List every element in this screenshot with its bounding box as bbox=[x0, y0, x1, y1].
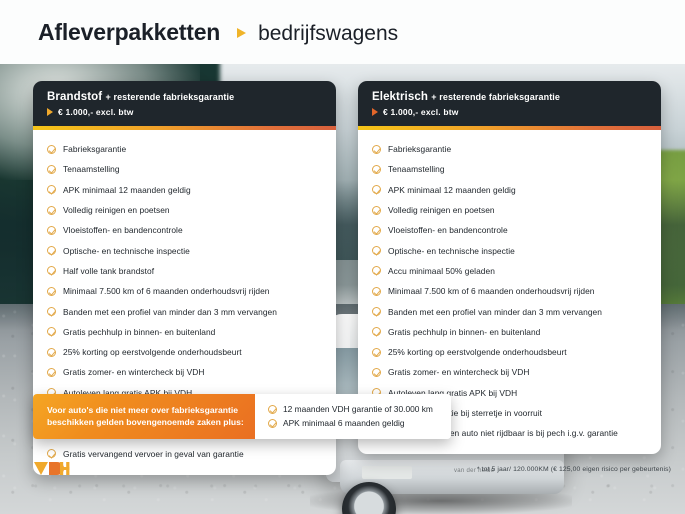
list-item: 25% korting op eerstvolgende onderhoudsb… bbox=[358, 342, 661, 362]
list-item-label: Tenaamstelling bbox=[388, 164, 445, 174]
list-item-label: Gratis pechhulp in binnen- en buitenland bbox=[63, 327, 215, 337]
check-circle-icon bbox=[47, 246, 56, 255]
triangle-right-icon bbox=[372, 108, 378, 116]
card-title: Brandstof + resterende fabrieksgarantie bbox=[47, 91, 322, 103]
check-circle-icon bbox=[47, 327, 56, 336]
van-license-plate bbox=[362, 466, 412, 479]
list-item: 12 maanden VDH garantie of 30.000 km bbox=[268, 404, 435, 414]
list-item: Half volle tank brandstof bbox=[33, 261, 336, 281]
afleverpakketten-poster: VW van der heide Afleverpakketten bedrij… bbox=[0, 0, 685, 514]
triangle-right-icon bbox=[237, 28, 246, 38]
list-item-label: Gratis pechhulp in binnen- en buitenland bbox=[388, 327, 540, 337]
banner-white-panel: 12 maanden VDH garantie of 30.000 km APK… bbox=[255, 394, 451, 439]
list-item-label: Optische- en technische inspectie bbox=[63, 246, 190, 256]
check-circle-icon bbox=[47, 226, 56, 235]
check-circle-icon bbox=[47, 266, 56, 275]
list-item: Tenaamstelling bbox=[33, 159, 336, 179]
list-item-label: Gratis zomer- en wintercheck bij VDH bbox=[388, 367, 529, 377]
list-item-label: Tenaamstelling bbox=[63, 164, 120, 174]
list-item: Vloeistoffen- en bandencontrole bbox=[33, 220, 336, 240]
list-item-label: Minimaal 7.500 km of 6 maanden onderhoud… bbox=[63, 286, 270, 296]
list-item: APK minimaal 12 maanden geldig bbox=[33, 180, 336, 200]
list-item: Optische- en technische inspectie bbox=[358, 240, 661, 260]
list-item-label: 12 maanden VDH garantie of 30.000 km bbox=[283, 404, 433, 414]
list-item-label: Vloeistoffen- en bandencontrole bbox=[63, 225, 183, 235]
list-item: Banden met een profiel van minder dan 3 … bbox=[33, 301, 336, 321]
list-item-label: Accu minimaal 50% geladen bbox=[388, 266, 495, 276]
list-item: Vloeistoffen- en bandencontrole bbox=[358, 220, 661, 240]
list-item-label: Volledig reinigen en poetsen bbox=[388, 205, 495, 215]
card-title-suffix: + resterende fabrieksgarantie bbox=[431, 92, 560, 102]
list-item: Volledig reinigen en poetsen bbox=[358, 200, 661, 220]
logo-text-bold: heide bbox=[130, 458, 173, 477]
list-item-label: Vloeistoffen- en bandencontrole bbox=[388, 225, 508, 235]
check-circle-icon bbox=[47, 145, 56, 154]
check-circle-icon bbox=[372, 368, 381, 377]
list-item-label: 25% korting op eerstvolgende onderhoudsb… bbox=[388, 347, 567, 357]
check-circle-icon bbox=[47, 165, 56, 174]
page-header: Afleverpakketten bedrijfswagens bbox=[0, 0, 685, 64]
card-title-text: Elektrisch bbox=[372, 91, 428, 103]
check-circle-icon bbox=[47, 449, 56, 458]
list-item-label: APK minimaal 12 maanden geldig bbox=[388, 185, 516, 195]
check-circle-icon bbox=[372, 266, 381, 275]
list-item: APK minimaal 6 maanden geldig bbox=[268, 418, 435, 428]
banner-line-1: Voor auto's die niet meer over fabrieksg… bbox=[47, 404, 241, 416]
banner-orange-panel: Voor auto's die niet meer over fabrieksg… bbox=[33, 394, 255, 439]
card-price-row: € 1.000,- excl. btw bbox=[47, 107, 322, 117]
page-title-sub: bedrijfswagens bbox=[258, 22, 398, 45]
check-circle-icon bbox=[372, 327, 381, 336]
list-item: Minimaal 7.500 km of 6 maanden onderhoud… bbox=[33, 281, 336, 301]
check-circle-icon bbox=[47, 307, 56, 316]
check-circle-icon bbox=[47, 348, 56, 357]
card-title-text: Brandstof bbox=[47, 91, 102, 103]
card-header: Brandstof + resterende fabrieksgarantie … bbox=[33, 81, 336, 126]
card-title-suffix: + resterende fabrieksgarantie bbox=[106, 92, 235, 102]
list-item: Gratis pechhulp in binnen- en buitenland bbox=[358, 322, 661, 342]
list-item-label: Banden met een profiel van minder dan 3 … bbox=[63, 307, 277, 317]
check-circle-icon bbox=[372, 165, 381, 174]
page-title-main: Afleverpakketten bbox=[38, 19, 220, 45]
triangle-right-icon bbox=[47, 108, 53, 116]
list-item: Gratis zomer- en wintercheck bij VDH bbox=[33, 362, 336, 382]
card-title: Elektrisch + resterende fabrieksgarantie bbox=[372, 91, 647, 103]
check-circle-icon bbox=[372, 307, 381, 316]
check-circle-icon bbox=[372, 185, 381, 194]
page-title: Afleverpakketten bedrijfswagens bbox=[38, 19, 398, 46]
list-item-label: Volledig reinigen en poetsen bbox=[63, 205, 170, 215]
list-item: Gratis pechhulp in binnen- en buitenland bbox=[33, 322, 336, 342]
list-item-label: 25% korting op eerstvolgende onderhoudsb… bbox=[63, 347, 242, 357]
check-circle-icon bbox=[47, 185, 56, 194]
list-item: Fabrieksgarantie bbox=[358, 139, 661, 159]
list-item: APK minimaal 12 maanden geldig bbox=[358, 180, 661, 200]
list-item: Volledig reinigen en poetsen bbox=[33, 200, 336, 220]
card-price: € 1.000,- excl. btw bbox=[383, 107, 459, 117]
check-circle-icon bbox=[47, 287, 56, 296]
check-circle-icon bbox=[372, 226, 381, 235]
logo-text-light: vander bbox=[79, 458, 130, 477]
list-item: Minimaal 7.500 km of 6 maanden onderhoud… bbox=[358, 281, 661, 301]
footnote: * tot 5 jaar/ 120.000KM (€ 125,00 eigen … bbox=[477, 466, 671, 473]
list-item: Tenaamstelling bbox=[358, 159, 661, 179]
list-item-label: Half volle tank brandstof bbox=[63, 266, 154, 276]
list-item: Optische- en technische inspectie bbox=[33, 240, 336, 260]
check-circle-icon bbox=[372, 287, 381, 296]
list-item-label: Gratis zomer- en wintercheck bij VDH bbox=[63, 367, 204, 377]
logo-wordmark: vanderheide bbox=[79, 458, 173, 478]
card-header: Elektrisch + resterende fabrieksgarantie… bbox=[358, 81, 661, 126]
check-circle-icon bbox=[268, 419, 277, 428]
list-item: Fabrieksgarantie bbox=[33, 139, 336, 159]
list-item-label: Banden met een profiel van minder dan 3 … bbox=[388, 307, 602, 317]
list-item-label: Optische- en technische inspectie bbox=[388, 246, 515, 256]
list-item-label: APK minimaal 12 maanden geldig bbox=[63, 185, 191, 195]
check-circle-icon bbox=[372, 145, 381, 154]
list-item: Accu minimaal 50% geladen bbox=[358, 261, 661, 281]
no-warranty-banner: Voor auto's die niet meer over fabrieksg… bbox=[33, 394, 451, 439]
list-item-label: Fabrieksgarantie bbox=[388, 144, 451, 154]
card-price-row: € 1.000,- excl. btw bbox=[372, 107, 647, 117]
check-circle-icon bbox=[372, 348, 381, 357]
check-circle-icon bbox=[47, 206, 56, 215]
check-circle-icon bbox=[47, 368, 56, 377]
list-item-label: Fabrieksgarantie bbox=[63, 144, 126, 154]
list-item: Gratis zomer- en wintercheck bij VDH bbox=[358, 362, 661, 382]
check-circle-icon bbox=[268, 405, 277, 414]
check-circle-icon bbox=[372, 206, 381, 215]
card-price: € 1.000,- excl. btw bbox=[58, 107, 134, 117]
vanderheide-logo: vanderheide bbox=[34, 458, 173, 478]
list-item: 25% korting op eerstvolgende onderhoudsb… bbox=[33, 342, 336, 362]
list-item: Banden met een profiel van minder dan 3 … bbox=[358, 301, 661, 321]
vdh-logo-icon bbox=[34, 459, 70, 478]
list-item-label: Minimaal 7.500 km of 6 maanden onderhoud… bbox=[388, 286, 595, 296]
list-item-label: APK minimaal 6 maanden geldig bbox=[283, 418, 405, 428]
banner-line-2: beschikken gelden bovengenoemde zaken pl… bbox=[47, 416, 241, 428]
check-circle-icon bbox=[372, 246, 381, 255]
